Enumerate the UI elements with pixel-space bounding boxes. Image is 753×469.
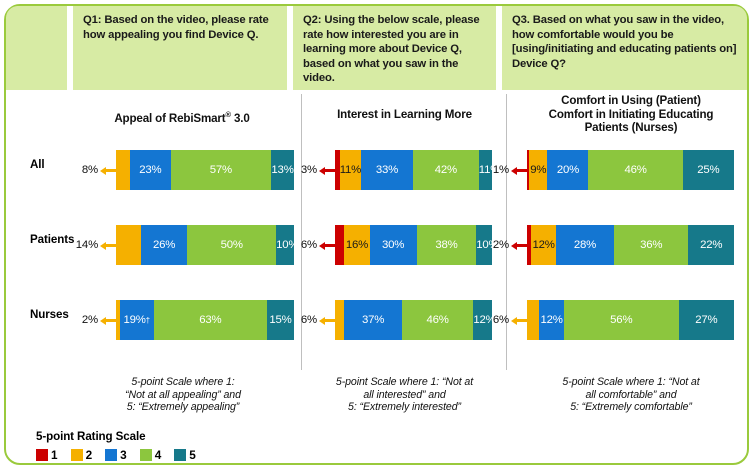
- chart-title-q3-line1: Comfort in Using (Patient): [511, 94, 751, 108]
- callout-value: 6%: [301, 314, 317, 326]
- bar-segment-label: 46%: [426, 314, 448, 326]
- chart-body: Appeal of RebiSmart® 3.0 Interest in Lea…: [6, 90, 747, 463]
- bar-segment-label: 23%: [139, 164, 161, 176]
- bar-segment-rating-2: [527, 300, 539, 340]
- callout-value: 1%: [493, 164, 509, 176]
- stacked-bar-q3-all: 9%20%46%25%: [527, 150, 734, 190]
- chart-title-q1-text: Appeal of RebiSmart: [114, 112, 225, 125]
- legend-label: 1: [51, 448, 58, 462]
- header-blank-cell: [6, 6, 67, 90]
- left-arrow-icon: [511, 317, 527, 323]
- legend-label: 4: [155, 448, 162, 462]
- stacked-bar-q2-patients: 16%30%38%10%: [335, 225, 492, 265]
- chart-title-q1: Appeal of RebiSmart® 3.0: [66, 108, 298, 125]
- header-question-q1: Q1: Based on the video, please rate how …: [73, 6, 287, 90]
- bar-segment-label: 22%: [700, 239, 722, 251]
- bar-segment-rating-3: 30%: [370, 225, 417, 265]
- bar-segment-label: 63%: [199, 314, 221, 326]
- bar-segment-label: 12%: [532, 239, 554, 251]
- bar-segment-label: 20%: [557, 164, 579, 176]
- left-arrow-icon: [511, 167, 527, 173]
- left-arrow-icon: [319, 167, 335, 173]
- legend-label: 3: [120, 448, 127, 462]
- bar-segment-label: 37%: [362, 314, 384, 326]
- bar-segment-label: 36%: [640, 239, 662, 251]
- bar-segment-rating-2: 16%: [344, 225, 369, 265]
- bar-segment-rating-4: 63%: [154, 300, 267, 340]
- legend-swatch-icon: [105, 449, 117, 461]
- bar-segment-rating-2: [335, 300, 344, 340]
- chart-title-q3: Comfort in Using (Patient) Comfort in In…: [511, 94, 751, 135]
- left-arrow-icon: [100, 167, 116, 173]
- row-label-all: All: [30, 158, 45, 171]
- bar-segment-rating-3: 26%: [141, 225, 187, 265]
- bar-segment-label: 19%: [123, 314, 145, 326]
- chart-title-q1-version: 3.0: [231, 112, 250, 125]
- bar-segment-label: 16%: [346, 239, 368, 251]
- bar-segment-label: 42%: [435, 164, 457, 176]
- footnote-q2: 5-point Scale where 1: “Not at all inter…: [306, 376, 503, 414]
- bar-segment-label: 12%: [540, 314, 562, 326]
- left-arrow-icon: [100, 317, 116, 323]
- bar-segment-rating-5: 27%: [679, 300, 734, 340]
- dagger-footnote-marker: †: [146, 316, 150, 325]
- legend-swatch-icon: [140, 449, 152, 461]
- footnote-line: 5-point Scale where 1: “Not at: [511, 376, 751, 389]
- bar-segment-rating-2: [116, 225, 141, 265]
- callout-value: 3%: [301, 164, 317, 176]
- callout-q1-all: 8%: [62, 159, 116, 181]
- callout-q3-patients: 2%: [473, 234, 527, 256]
- stacked-bar-q2-nurses: 37%46%12%: [335, 300, 492, 340]
- bar-segment-rating-1: [335, 225, 344, 265]
- footnote-line: 5: “Extremely comfortable”: [511, 401, 751, 414]
- bar-segment-rating-3: 33%: [361, 150, 413, 190]
- bar-segment-label: 26%: [153, 239, 175, 251]
- bar-segment-label: 9%: [530, 164, 546, 176]
- legend-label: 5: [189, 448, 196, 462]
- legend-item-1: 1: [36, 448, 58, 462]
- footnote-q1: 5-point Scale where 1: “Not at all appea…: [68, 376, 298, 414]
- callout-value: 14%: [76, 239, 98, 251]
- legend-swatch-icon: [174, 449, 186, 461]
- bar-segment-label: 30%: [382, 239, 404, 251]
- bar-segment-label: 38%: [435, 239, 457, 251]
- chart-title-q3-line2: Comfort in Initiating Educating: [511, 108, 751, 122]
- bar-segment-label: 25%: [697, 164, 719, 176]
- chart-title-q2: Interest in Learning More: [306, 108, 503, 122]
- bar-segment-rating-4: 38%: [417, 225, 477, 265]
- bar-segment-label: 27%: [695, 314, 717, 326]
- bar-segment-rating-2: [116, 150, 130, 190]
- callout-q2-patients: 6%: [281, 234, 335, 256]
- footnote-line: all comfortable” and: [511, 389, 751, 402]
- header-question-q2: Q2: Using the below scale, please rate h…: [293, 6, 496, 90]
- bar-segment-rating-4: 42%: [413, 150, 479, 190]
- bar-segment-rating-3: 37%: [344, 300, 402, 340]
- legend-swatch-icon: [36, 449, 48, 461]
- bar-segment-rating-3: 12%: [539, 300, 564, 340]
- bar-segment-label: 57%: [210, 164, 232, 176]
- footnote-line: all interested” and: [306, 389, 503, 402]
- bar-segment-rating-3: 23%: [130, 150, 171, 190]
- callout-q3-nurses: 6%: [473, 309, 527, 331]
- bar-segment-rating-4: 46%: [588, 150, 682, 190]
- stacked-bar-q3-nurses: 12%56%27%: [527, 300, 734, 340]
- bar-segment-rating-2: 12%: [531, 225, 556, 265]
- stacked-bar-q3-patients: 12%28%36%22%: [527, 225, 734, 265]
- bar-segment-label: 11%: [340, 164, 361, 176]
- bar-segment-rating-5: 22%: [688, 225, 734, 265]
- legend-title: 5-point Rating Scale: [36, 430, 209, 443]
- callout-value: 2%: [493, 239, 509, 251]
- bar-segment-rating-4: 57%: [171, 150, 271, 190]
- callout-q3-all: 1%: [473, 159, 527, 181]
- left-arrow-icon: [319, 242, 335, 248]
- legend-swatch-icon: [71, 449, 83, 461]
- callout-q2-nurses: 6%: [281, 309, 335, 331]
- bar-segment-label: 56%: [610, 314, 632, 326]
- question-header-row: Q1: Based on the video, please rate how …: [6, 6, 747, 90]
- callout-value: 8%: [82, 164, 98, 176]
- chart-title-q3-line3: Patients (Nurses): [511, 121, 751, 135]
- footnote-line: 5: “Extremely interested”: [306, 401, 503, 414]
- bar-segment-rating-2: 11%: [340, 150, 361, 190]
- legend-items: 12345: [36, 448, 209, 462]
- legend-item-4: 4: [140, 448, 162, 462]
- footnote-line: “Not at all appealing” and: [68, 389, 298, 402]
- bar-segment-label: 50%: [221, 239, 243, 251]
- stacked-bar-q1-all: 23%57%13%: [116, 150, 294, 190]
- footnote-q3: 5-point Scale where 1: “Not at all comfo…: [511, 376, 751, 414]
- footnote-line: 5-point Scale where 1:: [68, 376, 298, 389]
- bar-segment-rating-3: 20%: [547, 150, 588, 190]
- legend-label: 2: [86, 448, 93, 462]
- callout-q2-all: 3%: [281, 159, 335, 181]
- bar-segment-rating-2: 9%: [529, 150, 547, 190]
- chart-figure: Q1: Based on the video, please rate how …: [0, 0, 753, 469]
- legend-item-2: 2: [71, 448, 93, 462]
- bar-segment-label: 33%: [376, 164, 398, 176]
- left-arrow-icon: [319, 317, 335, 323]
- legend-item-5: 5: [174, 448, 196, 462]
- bar-segment-rating-4: 46%: [402, 300, 474, 340]
- left-arrow-icon: [100, 242, 116, 248]
- bar-segment-rating-4: 36%: [614, 225, 689, 265]
- bar-segment-rating-3: 19%†: [120, 300, 154, 340]
- bar-segment-rating-5: 25%: [683, 150, 734, 190]
- bar-segment-rating-4: 50%: [187, 225, 276, 265]
- callout-value: 6%: [301, 239, 317, 251]
- left-arrow-icon: [511, 242, 527, 248]
- footnote-line: 5-point Scale where 1: “Not at: [306, 376, 503, 389]
- legend-item-3: 3: [105, 448, 127, 462]
- stacked-bar-q1-patients: 26%50%10%: [116, 225, 294, 265]
- header-question-q3: Q3. Based on what you saw in the video, …: [502, 6, 747, 90]
- callout-value: 6%: [493, 314, 509, 326]
- stacked-bar-q2-all: 11%33%42%11%: [335, 150, 492, 190]
- bar-segment-label: 28%: [574, 239, 596, 251]
- callout-value: 2%: [82, 314, 98, 326]
- callout-q1-nurses: 2%: [62, 309, 116, 331]
- callout-q1-patients: 14%: [62, 234, 116, 256]
- legend: 5-point Rating Scale 12345: [36, 430, 209, 462]
- bar-segment-rating-4: 56%: [564, 300, 679, 340]
- bar-segment-rating-3: 28%: [556, 225, 614, 265]
- footnote-line: 5: “Extremely appealing”: [68, 401, 298, 414]
- stacked-bar-q1-nurses: 19%†63%15%: [116, 300, 294, 340]
- bar-segment-label: 46%: [625, 164, 647, 176]
